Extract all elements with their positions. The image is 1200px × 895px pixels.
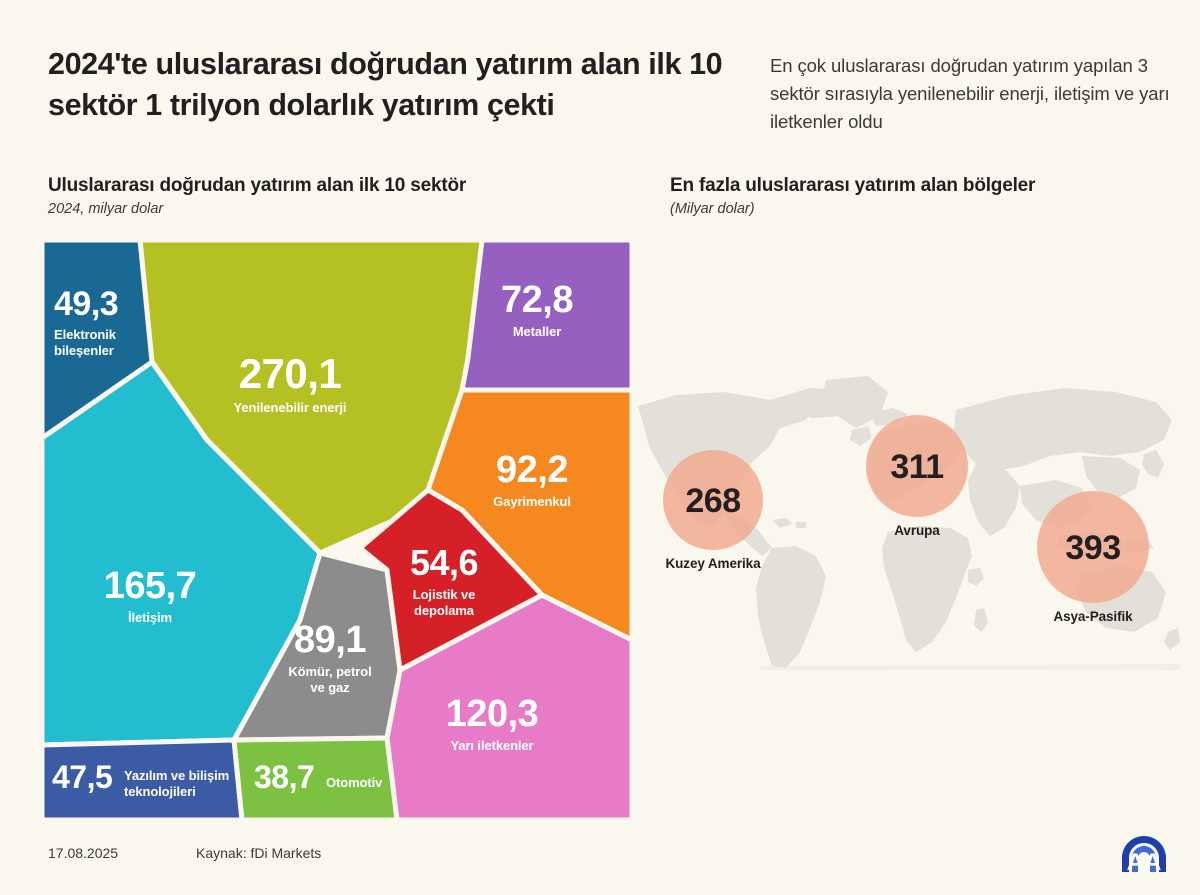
infographic-page: 2024'te uluslararası doğrudan yatırım al… <box>0 0 1200 895</box>
map-bubble-europe[interactable]: 311Avrupa <box>866 415 968 538</box>
world-map-svg: 268Kuzey Amerika311Avrupa393Asya-Pasifik <box>620 370 1180 670</box>
treemap-label-metals: Metaller <box>513 324 561 339</box>
treemap-label-electronics: bileşenler <box>54 343 114 358</box>
treemap-label-software: teknolojileri <box>124 784 196 799</box>
treemap-label-semiconductors: Yarı iletkenler <box>450 738 533 753</box>
treemap-label-communication: İletişim <box>128 610 172 625</box>
treemap-value-software: 47,5 <box>52 759 112 795</box>
treemap-value-oilgas: 89,1 <box>294 619 366 661</box>
map-bubble-label-asia-pacific: Asya-Pasifik <box>1053 609 1133 624</box>
aa-logo[interactable]: AA <box>1113 830 1175 878</box>
treemap-value-metals: 72,8 <box>501 279 573 321</box>
page-subtitle: En çok uluslararası doğrudan yatırım yap… <box>770 52 1170 136</box>
treemap-label-electronics: Elektronik <box>54 327 117 342</box>
treemap-label-oilgas: ve gaz <box>310 680 350 695</box>
treemap-cell-automotive[interactable]: 38,7Otomotiv <box>234 738 397 820</box>
footer-date: 17.08.2025 <box>48 845 118 861</box>
map-bubble-value-europe: 311 <box>890 448 943 486</box>
footer-source: Kaynak: fDi Markets <box>196 845 321 861</box>
left-section-heading: Uluslararası doğrudan yatırım alan ilk 1… <box>48 175 466 217</box>
treemap-label-renewable: Yenilenebilir enerji <box>234 400 347 415</box>
svg-text:AA: AA <box>1127 849 1162 876</box>
treemap-value-automotive: 38,7 <box>254 759 314 795</box>
treemap-label-automotive: Otomotiv <box>326 775 383 790</box>
treemap-value-electronics: 49,3 <box>54 285 118 323</box>
map-bubble-label-north-america: Kuzey Amerika <box>666 556 762 571</box>
page-title: 2024'te uluslararası doğrudan yatırım al… <box>48 44 748 125</box>
treemap-label-realestate: Gayrimenkul <box>493 494 571 509</box>
map-bubble-north-america[interactable]: 268Kuzey Amerika <box>663 450 763 571</box>
aa-logo-icon: AA <box>1113 830 1175 878</box>
treemap-value-realestate: 92,2 <box>496 449 568 491</box>
right-section-title: En fazla uluslararası yatırım alan bölge… <box>670 175 1035 197</box>
treemap-label-logistics: depolama <box>414 603 475 618</box>
right-section-subtitle: (Milyar dolar) <box>670 201 1035 217</box>
treemap-cell-software[interactable]: 47,5Yazılım ve bilişimteknolojileri <box>42 740 242 820</box>
world-bubble-map: 268Kuzey Amerika311Avrupa393Asya-Pasifik <box>620 370 1180 670</box>
treemap-label-oilgas: Kömür, petrol <box>288 664 371 679</box>
treemap-cell-metals[interactable]: 72,8Metaller <box>462 240 632 390</box>
map-bubble-value-asia-pacific: 393 <box>1065 529 1120 567</box>
treemap-value-communication: 165,7 <box>104 565 197 607</box>
right-section-heading: En fazla uluslararası yatırım alan bölge… <box>670 175 1035 217</box>
map-bubble-value-north-america: 268 <box>685 482 740 520</box>
treemap-value-renewable: 270,1 <box>239 350 342 397</box>
treemap-value-logistics: 54,6 <box>410 542 478 583</box>
treemap-value-semiconductors: 120,3 <box>446 693 539 735</box>
left-section-title: Uluslararası doğrudan yatırım alan ilk 1… <box>48 175 466 197</box>
left-section-subtitle: 2024, milyar dolar <box>48 201 466 217</box>
treemap-label-software: Yazılım ve bilişim <box>124 768 229 783</box>
treemap-label-logistics: Lojistik ve <box>413 587 475 602</box>
map-bubble-label-europe: Avrupa <box>894 523 940 538</box>
voronoi-svg: 270,1Yenilenebilir enerji165,7İletişim12… <box>42 240 632 820</box>
voronoi-treemap: 270,1Yenilenebilir enerji165,7İletişim12… <box>42 240 632 820</box>
